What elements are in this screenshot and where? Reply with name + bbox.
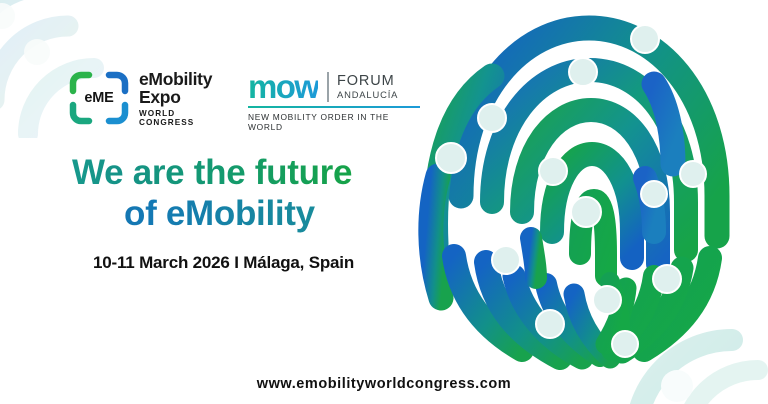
mow-gradient-rule <box>248 106 420 108</box>
website-url[interactable]: www.emobilityworldcongress.com <box>0 376 768 392</box>
headline-line-2: of eMobility <box>72 193 352 234</box>
content-column: eME eMobility Expo WORLD CONGRESS mow FO… <box>0 0 420 404</box>
fingerprint-illustration <box>414 6 764 374</box>
eme-bracket-mark: eME <box>68 70 130 126</box>
mow-region-label: ANDALUCÍA <box>337 90 398 100</box>
mow-wordmark: mow <box>248 72 318 102</box>
promo-banner: eME eMobility Expo WORLD CONGRESS mow FO… <box>0 0 768 404</box>
eme-mark-text: eME <box>68 70 130 126</box>
mow-top-row: mow FORUM ANDALUCÍA <box>248 72 420 102</box>
mow-forum-logo: mow FORUM ANDALUCÍA NEW MOBILITY ORDER I… <box>248 68 420 132</box>
eme-name-line2: Expo <box>139 88 222 106</box>
mow-tagline: NEW MOBILITY ORDER IN THE WORLD <box>248 112 420 132</box>
mow-forum-label: FORUM <box>337 74 398 89</box>
eme-wordmark: eMobility Expo WORLD CONGRESS <box>139 68 222 127</box>
eme-subtitle: WORLD CONGRESS <box>139 109 222 127</box>
eme-expo-logo: eME eMobility Expo WORLD CONGRESS <box>68 68 222 127</box>
event-dates-location: 10-11 March 2026 I Málaga, Spain <box>93 253 354 273</box>
mow-forum-block: FORUM ANDALUCÍA <box>337 74 398 100</box>
headline-line-1: We are the future <box>72 152 352 193</box>
logo-row: eME eMobility Expo WORLD CONGRESS mow FO… <box>68 68 420 132</box>
page-title: We are the future of eMobility <box>72 152 352 234</box>
eme-name-line1: eMobility <box>139 70 222 88</box>
mow-divider <box>327 72 329 102</box>
